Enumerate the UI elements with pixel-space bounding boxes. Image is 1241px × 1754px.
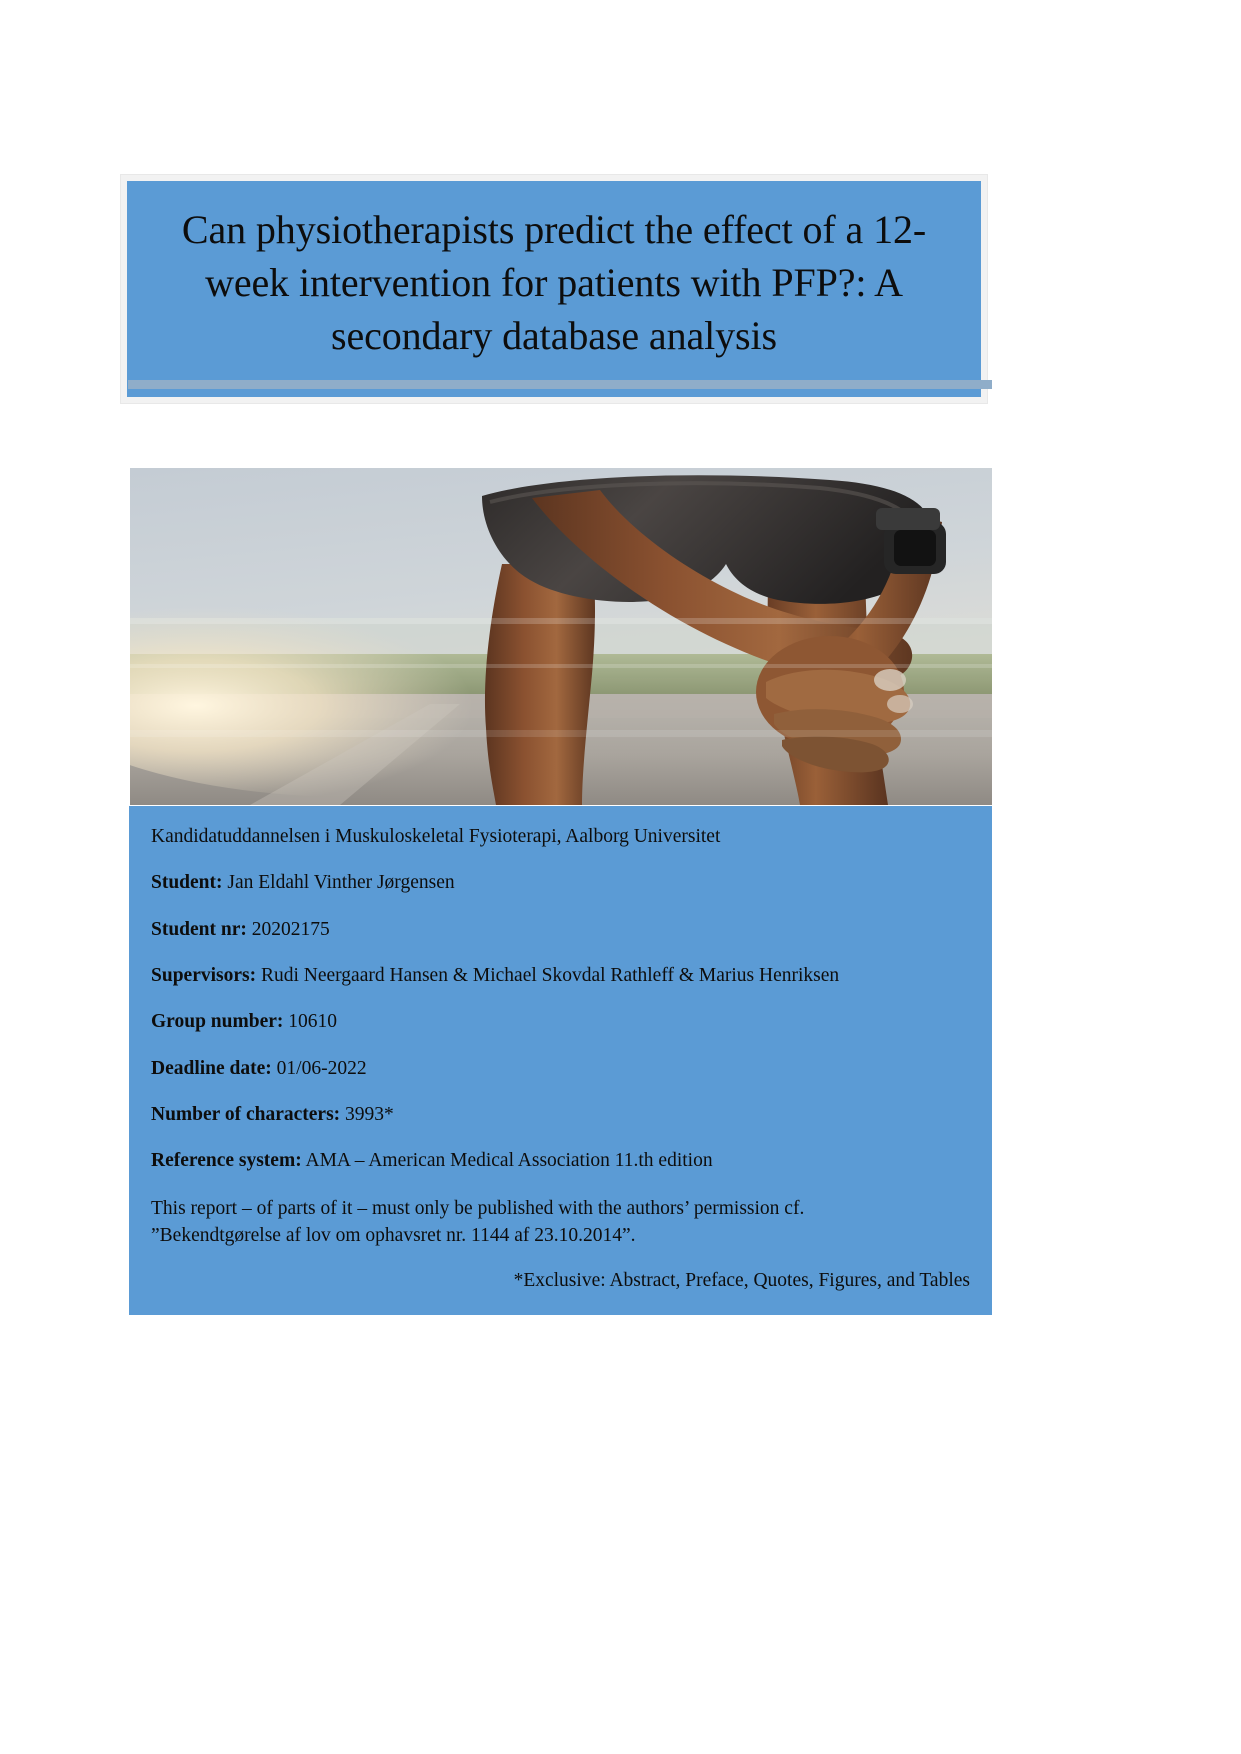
- field-student-value: Jan Eldahl Vinther Jørgensen: [227, 872, 454, 893]
- field-number-of-characters: Number of characters: 3993*: [151, 1102, 970, 1127]
- field-group-number-label: Group number:: [151, 1011, 283, 1032]
- field-student-nr-label: Student nr:: [151, 919, 247, 940]
- runner-holding-knee-photo: [130, 468, 992, 805]
- field-deadline-date-value: 01/06-2022: [277, 1058, 367, 1079]
- field-supervisors: Supervisors: Rudi Neergaard Hansen & Mic…: [151, 963, 970, 988]
- asterisk-footnote: *Exclusive: Abstract, Preface, Quotes, F…: [151, 1268, 970, 1293]
- field-supervisors-value: Rudi Neergaard Hansen & Michael Skovdal …: [261, 965, 839, 986]
- title-box-shadow: [128, 380, 992, 389]
- page-title: Can physiotherapists predict the effect …: [153, 203, 955, 363]
- field-reference-system: Reference system: AMA – American Medical…: [151, 1148, 970, 1173]
- field-number-of-characters-value: 3993*: [345, 1104, 394, 1125]
- institution-line: Kandidatuddannelsen i Muskuloskeletal Fy…: [151, 824, 970, 849]
- field-student: Student: Jan Eldahl Vinther Jørgensen: [151, 870, 970, 895]
- photo-illustration: [130, 468, 992, 805]
- field-number-of-characters-label: Number of characters:: [151, 1104, 340, 1125]
- field-reference-system-label: Reference system:: [151, 1150, 302, 1171]
- field-student-nr-value: 20202175: [252, 919, 330, 940]
- title-box-fill: Can physiotherapists predict the effect …: [127, 181, 981, 397]
- field-reference-system-value: AMA – American Medical Association 11.th…: [306, 1150, 713, 1171]
- field-deadline-date: Deadline date: 01/06-2022: [151, 1056, 970, 1081]
- publication-disclaimer: This report – of parts of it – must only…: [151, 1195, 911, 1250]
- field-supervisors-label: Supervisors:: [151, 965, 256, 986]
- metadata-block: Kandidatuddannelsen i Muskuloskeletal Fy…: [129, 806, 992, 1315]
- field-deadline-date-label: Deadline date:: [151, 1058, 272, 1079]
- cover-page: Can physiotherapists predict the effect …: [0, 0, 1241, 1754]
- field-group-number: Group number: 10610: [151, 1009, 970, 1034]
- field-student-nr: Student nr: 20202175: [151, 917, 970, 942]
- title-box: Can physiotherapists predict the effect …: [120, 174, 988, 404]
- field-student-label: Student:: [151, 872, 223, 893]
- field-group-number-value: 10610: [288, 1011, 337, 1032]
